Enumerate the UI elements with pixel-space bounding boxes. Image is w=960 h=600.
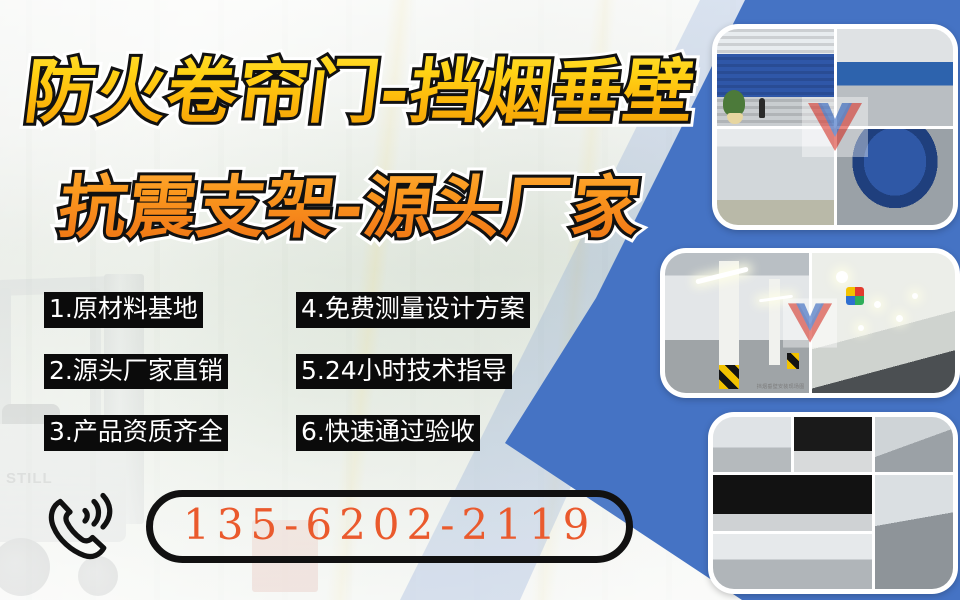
photo-lateral-brace [794,417,872,472]
photo-parking-garage: 挡烟垂壁安装现场图 [665,253,809,393]
advertisement-banner: STILL 防火卷帘门-挡烟垂壁 防火卷帘门-挡烟垂壁 防火卷帘门-挡烟垂壁 抗… [0,0,960,600]
feature-item-4: 4.免费测量设计方案 [296,292,530,328]
photo-cable-tray-brace [713,534,872,589]
photo-blue-shutter-door [717,29,834,126]
headline-secondary-text: 抗震支架-源头厂家 [54,152,647,251]
feature-item-3: 3.产品资质齐全 [44,415,228,451]
photo-collage-bottom [708,412,958,594]
headline-primary-text: 防火卷帘门-挡烟垂壁 [20,36,701,137]
feature-item-6: 6.快速通过验收 [296,415,480,451]
photo-duct-clamp [875,417,953,472]
photo-collage-middle: 挡烟垂壁安装现场图 [660,248,960,398]
photo-ceiling-lights [812,253,956,393]
photo-production-line [837,29,954,126]
feature-item-1: 1.原材料基地 [44,292,203,328]
photo-pipe-brace [713,417,791,472]
photo-steel-shutter [717,129,834,226]
phone-ringing-icon [40,491,118,563]
photo-steel-coil [837,129,954,226]
photo-round-duct-brace [713,475,872,530]
phone-number-pill[interactable]: 135-6202-2119 [146,490,633,563]
feature-item-2: 2.源头厂家直销 [44,354,228,390]
contact-row: 135-6202-2119 [40,490,633,563]
photo-caption: 挡烟垂壁安装现场图 [757,383,805,390]
phone-number-text: 135-6202-2119 [183,500,596,549]
photo-ceiling-fan-brace [875,475,953,589]
feature-list: 1.原材料基地 4.免费测量设计方案 2.源头厂家直销 5.24小时技术指导 3… [44,292,564,451]
photo-collage-top [712,24,958,230]
feature-item-5: 5.24小时技术指导 [296,354,512,390]
